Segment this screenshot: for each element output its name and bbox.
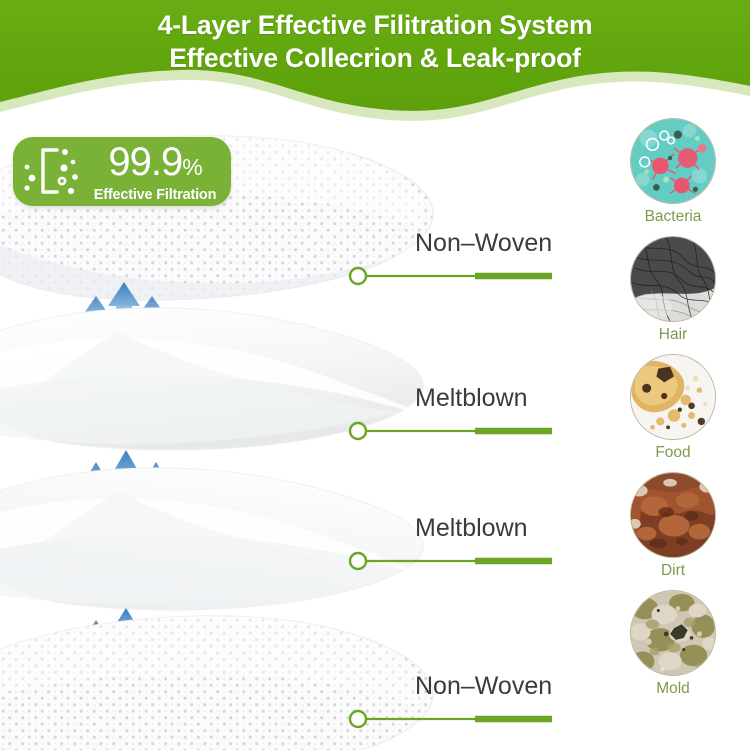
badge-percent-number: 99.9: [108, 140, 182, 184]
header-banner: 4-Layer Effective Filitration System Eff…: [0, 0, 750, 125]
layer-sheet-non-woven-bottom: [0, 616, 433, 750]
contaminant-label-food: Food: [612, 443, 734, 462]
callout-label-layer-4: Non–Woven: [415, 671, 552, 701]
contaminant-label-dirt: Dirt: [612, 561, 734, 580]
header-title-line-2: Effective Collecrion & Leak-proof: [0, 42, 750, 75]
callout-label-layer-2: Meltblown: [415, 383, 528, 413]
contaminant-item-mold: Mold: [612, 590, 750, 708]
food-crumbs-image: [630, 354, 716, 440]
filter-particles-icon: [13, 137, 87, 206]
callout-leader-line-1: [347, 266, 552, 286]
bacteria-micrograph-image: [630, 118, 716, 204]
hair-strands-image: [630, 236, 716, 322]
contaminant-item-hair: Hair: [612, 236, 750, 354]
dirt-powder-image: [630, 472, 716, 558]
header-title-line-1: 4-Layer Effective Filitration System: [158, 10, 593, 40]
contaminant-item-food: Food: [612, 354, 750, 472]
badge-percent-symbol: %: [182, 154, 201, 180]
contaminant-label-mold: Mold: [612, 679, 734, 698]
contaminant-item-dirt: Dirt: [612, 472, 750, 590]
contaminant-label-bacteria: Bacteria: [612, 207, 734, 226]
contaminant-list: Bacteria: [612, 118, 750, 708]
filtration-efficiency-badge: 99.9% Effective Filtration: [13, 137, 231, 206]
infographic-page: 4-Layer Effective Filitration System Eff…: [0, 0, 750, 750]
badge-percent-value: 99.9%: [87, 143, 223, 186]
callout-leader-line-4: [347, 709, 552, 729]
mold-colony-image: [630, 590, 716, 676]
callout-label-layer-1: Non–Woven: [415, 228, 552, 258]
callout-label-layer-3: Meltblown: [415, 513, 528, 543]
callout-leader-line-3: [347, 551, 552, 571]
callout-leader-line-2: [347, 421, 552, 441]
layer-sheet-meltblown-lower: [0, 468, 423, 610]
badge-subtitle: Effective Filtration: [87, 187, 223, 204]
contaminant-label-hair: Hair: [612, 325, 734, 344]
badge-text-block: 99.9% Effective Filtration: [87, 140, 231, 204]
contaminant-item-bacteria: Bacteria: [612, 118, 750, 236]
page-title: 4-Layer Effective Filitration System Eff…: [0, 9, 750, 75]
